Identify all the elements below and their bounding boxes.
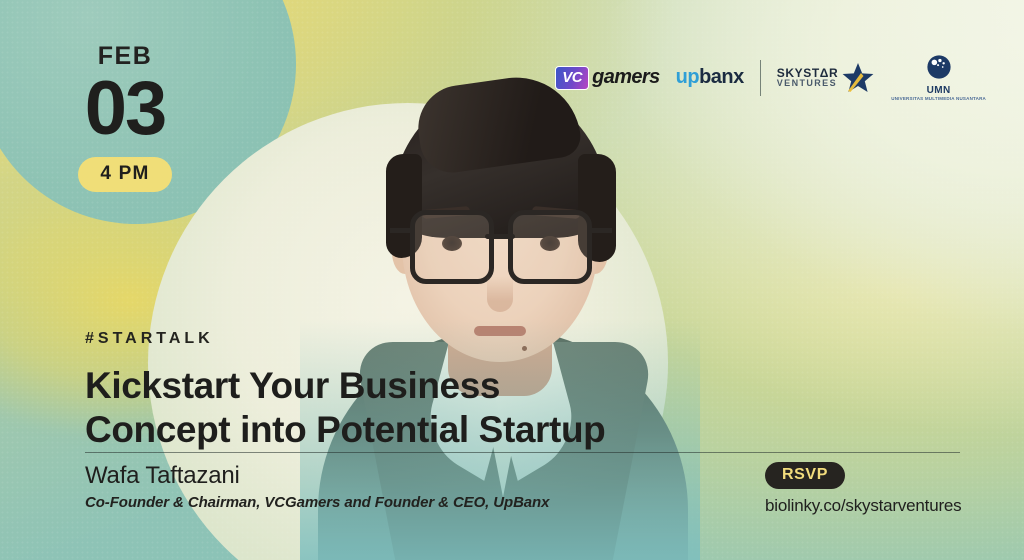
rsvp-badge[interactable]: RSVP — [765, 462, 845, 489]
horizontal-divider — [85, 452, 960, 453]
date-block: FEB 03 4 PM — [60, 44, 190, 192]
event-poster: FEB 03 4 PM VC gamers upbanx SKYSTΔR VEN… — [0, 0, 1024, 560]
rsvp-link[interactable]: biolinky.co/skystarventures — [765, 496, 961, 516]
glasses-lens-right — [508, 210, 592, 284]
umn-subtitle: UNIVERSITAS MULTIMEDIA NUSANTARA — [891, 97, 986, 102]
main-copy: #STARTALK Kickstart Your Business Concep… — [85, 330, 785, 451]
upbanx-prefix: up — [676, 66, 699, 88]
headline-line-2: Concept into Potential Startup — [85, 408, 785, 452]
time-badge: 4 PM — [78, 157, 171, 192]
speaker-info: Wafa Taftazani Co-Founder & Chairman, VC… — [85, 462, 549, 511]
partner-logo-bar: VC gamers upbanx SKYSTΔR VENTURES — [555, 54, 986, 102]
date-day: 03 — [60, 73, 190, 146]
vcgamers-wordmark: gamers — [592, 66, 660, 89]
hashtag-label: #STARTALK — [85, 330, 785, 348]
vcgamers-mark-icon: VC — [555, 66, 589, 90]
logo-umn: UMN UNIVERSITAS MULTIMEDIA NUSANTARA — [891, 54, 986, 102]
logo-vcgamers: VC gamers — [555, 66, 659, 90]
speaker-name: Wafa Taftazani — [85, 462, 549, 490]
portrait-nose — [487, 276, 513, 312]
umn-wordmark: UMN — [891, 86, 986, 96]
skystar-subname: VENTURES — [777, 79, 839, 88]
speaker-role: Co-Founder & Chairman, VCGamers and Foun… — [85, 494, 549, 511]
glasses-bridge — [485, 234, 515, 239]
upbanx-suffix: banx — [699, 66, 744, 88]
glasses-lens-left — [410, 210, 494, 284]
umn-globe-icon — [926, 54, 952, 80]
headline-line-1: Kickstart Your Business — [85, 364, 785, 408]
logo-skystar-ventures: SKYSTΔR VENTURES — [777, 61, 876, 95]
rsvp-block[interactable]: RSVP biolinky.co/skystarventures — [765, 462, 961, 516]
star-icon — [841, 61, 875, 95]
logo-upbanx: upbanx — [676, 66, 744, 89]
page-title: Kickstart Your Business Concept into Pot… — [85, 364, 785, 451]
logo-divider — [760, 60, 761, 96]
